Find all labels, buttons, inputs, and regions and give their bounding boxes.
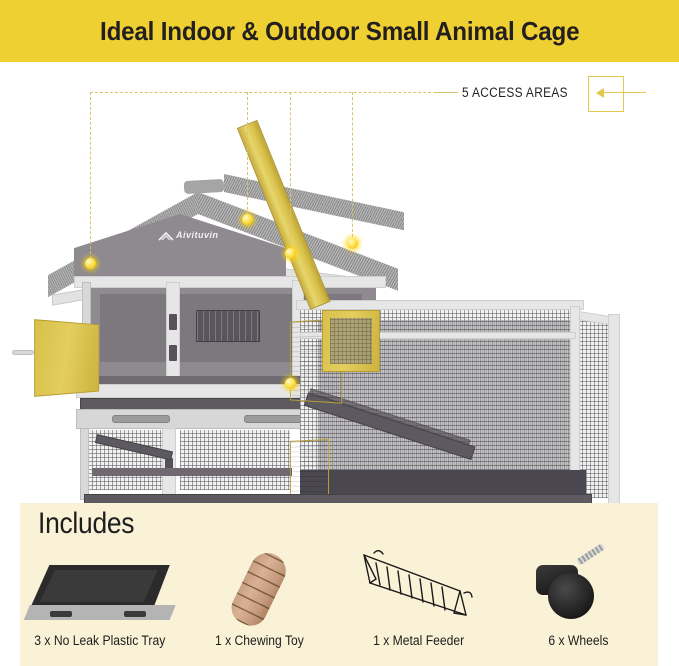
includes-item-label: 6 x Wheels [548,633,608,648]
brand-logo-icon [158,228,174,238]
access-arrow-head-icon [596,88,604,98]
chewing-toy-icon [180,541,340,633]
includes-item-label: 1 x Metal Feeder [373,633,464,648]
brand-name: Aivituvin [176,230,219,240]
access-arrow-tail [604,92,646,93]
upper-frame [74,276,386,288]
includes-item: 1 x Metal Feeder [339,539,499,666]
lower-mesh-mid [180,430,290,490]
upper-latch-top[interactable] [169,314,177,330]
access-marker-3 [285,248,296,259]
callout-drop-1 [90,92,91,264]
plastic-tray-icon [20,541,180,633]
includes-item: 6 x Wheels [499,539,659,666]
includes-item-label: 3 x No Leak Plastic Tray [34,633,165,648]
lower-shelf [92,468,292,476]
callout-lead-line [436,92,458,93]
upper-latch-bottom[interactable] [169,345,177,361]
infographic-page: Ideal Indoor & Outdoor Small Animal Cage… [0,0,679,666]
includes-panel: Includes 3 x No Leak Plastic Tray [20,503,658,666]
caster-wheel-icon [499,541,659,633]
header-banner: Ideal Indoor & Outdoor Small Animal Cage [0,0,679,62]
roof-ridge [184,179,225,194]
product-illustration: Aivituvin [0,62,679,500]
access-marker-5 [285,378,296,389]
access-door-upper-left[interactable] [34,319,99,397]
lower-left-post [80,428,89,500]
access-arrow-box [588,76,624,112]
access-marker-2 [242,214,253,225]
includes-item: 3 x No Leak Plastic Tray [20,539,180,666]
callout-drop-3 [290,92,291,252]
upper-tray-handle-right[interactable] [244,415,302,423]
access-marker-4 [347,238,358,249]
callout-rail [90,92,456,93]
access-door-run-top-mesh [330,318,372,364]
callout-drop-2 [247,92,248,220]
upper-tray-handle-left[interactable] [112,415,170,423]
includes-items-row: 3 x No Leak Plastic Tray 1 x Chewing Toy [20,539,658,666]
includes-heading: Includes [38,507,134,541]
page-title: Ideal Indoor & Outdoor Small Animal Cage [100,16,579,47]
access-areas-label: 5 ACCESS AREAS [462,85,568,100]
callout-drop-4 [352,92,353,242]
door-hinge-rod-left [12,350,34,355]
run-floor [300,470,586,494]
includes-item-label: 1 x Chewing Toy [215,633,304,648]
run-right-post [608,314,620,504]
metal-feeder-icon [339,541,499,633]
product-hero: Aivituvin [0,62,679,500]
hay-rack [196,310,260,342]
run-top-rail [296,300,584,310]
access-marker-1 [85,258,96,269]
includes-item: 1 x Chewing Toy [180,539,340,666]
